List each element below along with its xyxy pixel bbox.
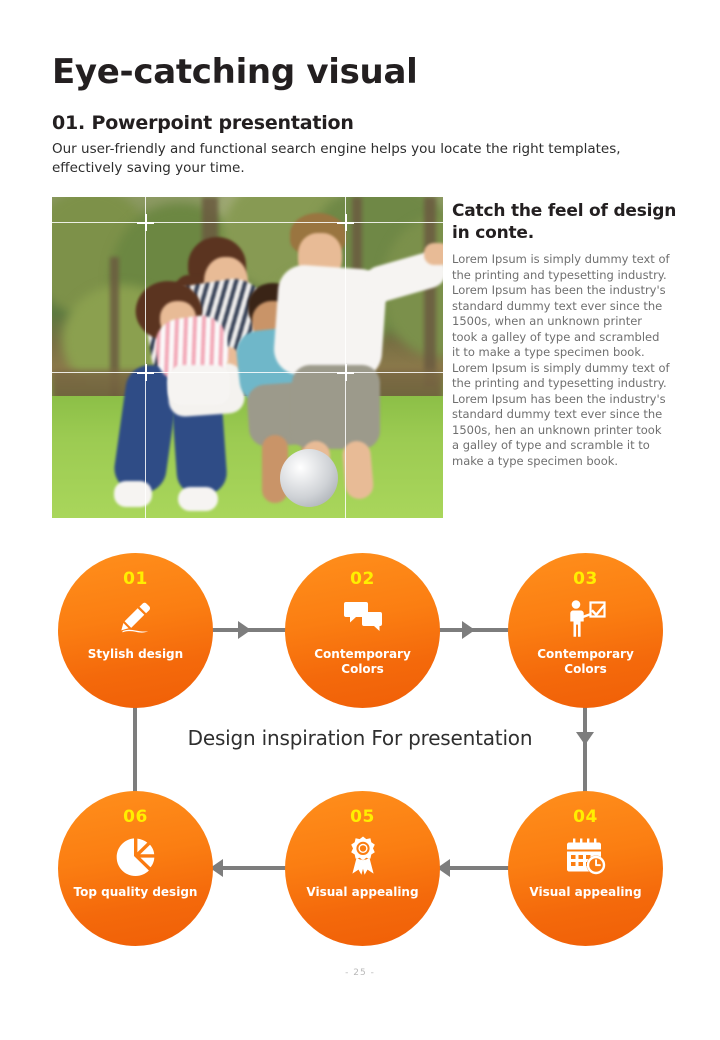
node-06-label: Top quality design: [64, 885, 207, 900]
node-04-label: Visual appealing: [514, 885, 657, 900]
node-03-label: Contemporary Colors: [514, 647, 657, 677]
node-02-number: 02: [285, 569, 440, 589]
award-ribbon-icon: [285, 835, 440, 877]
calendar-clock-icon: [508, 835, 663, 877]
node-01-number: 01: [58, 569, 213, 589]
speech-bubbles-icon: [285, 597, 440, 639]
right-column-paragraph-2: Lorem Ipsum is simply dummy text of the …: [452, 361, 670, 470]
slide: Eye-catching visual 01. Powerpoint prese…: [0, 0, 720, 1040]
process-node-05[interactable]: 05 Visual appealing: [285, 791, 440, 946]
node-01-label: Stylish design: [64, 647, 207, 662]
node-02-label: Contemporary Colors: [291, 647, 434, 677]
right-column-heading: Catch the feel of design in conte.: [452, 200, 677, 244]
section-title: 01. Powerpoint presentation: [52, 112, 354, 134]
arrow-02-03-icon: [462, 621, 475, 639]
page-number: - 25 -: [0, 968, 720, 978]
process-node-01[interactable]: 01 Stylish design: [58, 553, 213, 708]
family-photo: [52, 197, 443, 518]
marker-pen-icon: [58, 597, 213, 639]
pie-chart-icon: [58, 835, 213, 877]
process-node-06[interactable]: 06 Top quality design: [58, 791, 213, 946]
right-column-body: Lorem Ipsum is simply dummy text of the …: [452, 252, 670, 469]
node-05-label: Visual appealing: [291, 885, 434, 900]
page-title: Eye-catching visual: [52, 52, 417, 92]
node-05-number: 05: [285, 807, 440, 827]
process-node-03[interactable]: 03 Contemporary Colors: [508, 553, 663, 708]
photo-background: [52, 197, 443, 518]
node-04-number: 04: [508, 807, 663, 827]
diagram-caption: Design inspiration For presentation: [0, 726, 720, 750]
process-diagram: 01 Stylish design 02 Contemporary Co: [0, 540, 720, 940]
presenter-checkbox-icon: [508, 597, 663, 639]
connector-03-04: [583, 700, 587, 800]
process-node-02[interactable]: 02 Contemporary Colors: [285, 553, 440, 708]
right-column-paragraph-1: Lorem Ipsum is simply dummy text of the …: [452, 252, 670, 361]
process-node-04[interactable]: 04: [508, 791, 663, 946]
section-subtitle: Our user-friendly and functional search …: [52, 140, 632, 178]
arrow-01-02-icon: [238, 621, 251, 639]
node-03-number: 03: [508, 569, 663, 589]
connector-06-01: [133, 700, 137, 800]
node-06-number: 06: [58, 807, 213, 827]
